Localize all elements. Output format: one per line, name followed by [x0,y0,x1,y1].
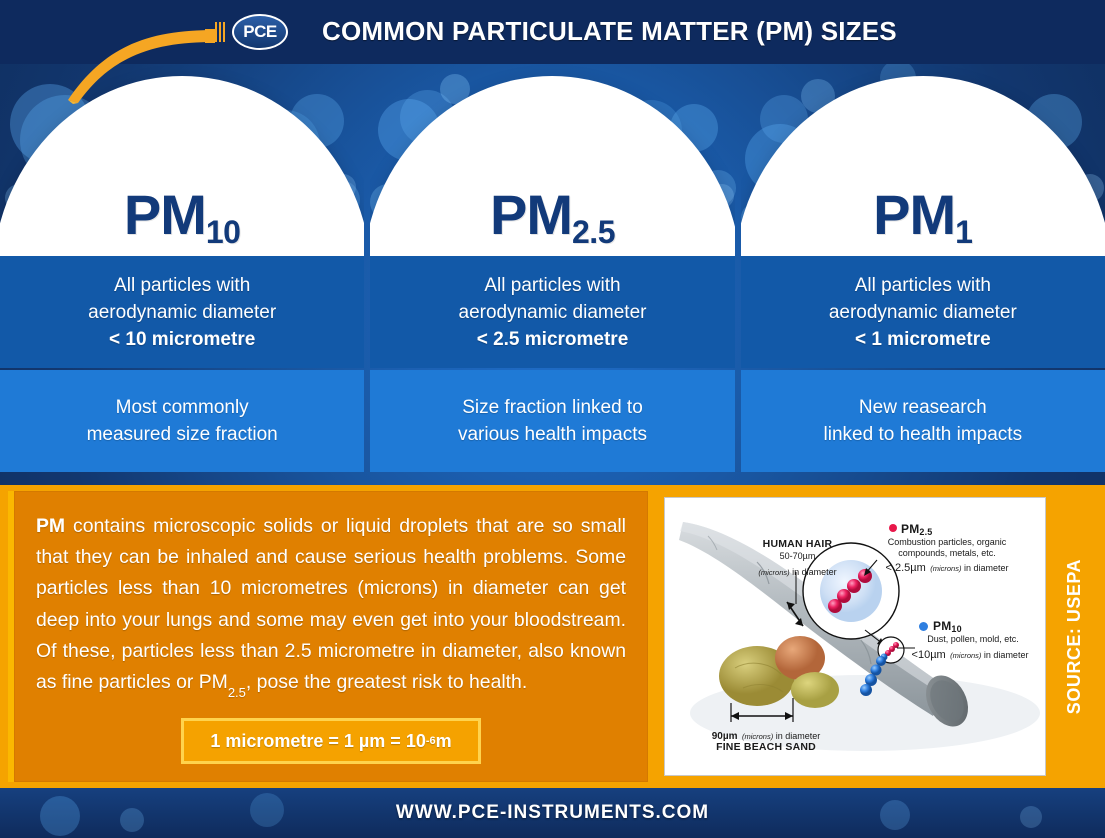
desc-line-3: < 10 micrometre [109,326,255,353]
pm10-dot-icon [919,622,928,631]
desc-line-2: aerodynamic diameter [459,299,647,326]
pm25-note-rest: in diameter [961,563,1008,573]
footer-bar: WWW.PCE-INSTRUMENTS.COM [0,788,1105,838]
pm-label-subscript: 1 [955,214,972,250]
note-line-2: various health impacts [458,421,647,448]
desc-line-2: aerodynamic diameter [88,299,276,326]
formula-pre: 1 micrometre = 1 µm = 10 [210,731,426,752]
pm-cards-row: PM10 All particles with aerodynamic diam… [0,64,1105,472]
pm-label-base: PM [873,183,955,246]
pm-label: PM2.5 [370,182,734,247]
human-hair-note: (microns) in diameter [735,562,860,580]
note-line-1: New reasearch [859,394,987,421]
pm-card-pm25[interactable]: PM2.5 All particles with aerodynamic dia… [370,64,734,472]
formula-post: m [436,731,452,752]
desc-line-1: All particles with [484,272,620,299]
card-note-band: Most commonly measured size fraction [0,370,364,472]
pce-logo[interactable]: PCE [232,14,288,50]
source-credit-text: SOURCE: USEPA [1064,559,1085,714]
desc-line-3: < 2.5 micrometre [477,326,629,353]
diagram-pm25-label: PM2.5 [901,522,933,536]
pm25-note-italic: (microns) [930,564,961,573]
card-description-band: All particles with aerodynamic diameter … [741,256,1105,368]
pm10-size-line: <10µm (microns) in diameter [895,645,1045,663]
note-line-2: linked to health impacts [824,421,1023,448]
sand-note-rest: in diameter [773,731,820,741]
bottom-panel: PM contains microscopic solids or liquid… [0,485,1105,788]
source-credit: SOURCE: USEPA [1053,491,1095,782]
pm-card-pm10[interactable]: PM10 All particles with aerodynamic diam… [0,64,364,472]
micrometre-formula-badge: 1 micrometre = 1 µm = 10-6 m [181,718,481,764]
card-description-band: All particles with aerodynamic diameter … [370,256,734,368]
desc-line-2: aerodynamic diameter [829,299,1017,326]
pm10-note-italic: (microns) [950,651,981,660]
pm-label-subscript: 10 [206,214,241,250]
card-description-band: All particles with aerodynamic diameter … [0,256,364,368]
pm-label: PM1 [741,182,1105,247]
desc-line-3: < 1 micrometre [855,326,991,353]
sand-title: FINE BEACH SAND [701,741,831,753]
pm-explanation-text: PM contains microscopic solids or liquid… [36,511,626,704]
pm10-desc-line1: Dust, pollen, mold, etc. [903,634,1043,644]
footer-url[interactable]: WWW.PCE-INSTRUMENTS.COM [0,802,1105,824]
pm10-size: <10µm [912,649,946,661]
desc-line-1: All particles with [114,272,250,299]
diagram-pm10-label: PM10 [933,619,962,633]
human-hair-title: HUMAN HAIR [745,538,850,550]
pm-explanation-lead: PM [36,515,65,537]
pce-logo-text: PCE [243,22,276,42]
human-hair-note-italic: (microns) [758,568,789,577]
note-line-1: Most commonly [116,394,249,421]
infographic-root: COMMON PARTICULATE MATTER (PM) SIZES PCE [0,0,1105,838]
pm25-dot-icon [889,524,897,532]
header-bar: COMMON PARTICULATE MATTER (PM) SIZES [0,0,1105,64]
pm-label-subscript: 2.5 [572,214,615,250]
pm-label-base: PM [490,183,572,246]
diagram-pm25-sub: 2.5 [919,527,932,537]
epa-diagram-image: HUMAN HAIR 50-70µm (microns) in diameter… [664,497,1046,776]
pm-explanation-subscript: 2.5 [228,685,246,700]
pm-label-base: PM [124,183,206,246]
pm25-size-line: < 2.5µm (microns) in diameter [857,558,1037,576]
pm-label: PM10 [0,182,364,247]
pm25-desc-line1: Combustion particles, organic [857,537,1037,547]
human-hair-note-rest: in diameter [790,567,837,577]
logo-bars-icon [215,22,227,42]
formula-exponent: -6 [426,735,436,747]
pm-explanation-body-a: contains microscopic solids or liquid dr… [36,515,626,693]
diagram-pm25-base: PM [901,522,919,536]
epa-diagram-panel: HUMAN HAIR 50-70µm (microns) in diameter… [656,491,1054,782]
pm-card-pm1[interactable]: PM1 All particles with aerodynamic diame… [741,64,1105,472]
pm25-size: < 2.5µm [885,562,925,574]
diagram-pm10-base: PM [933,619,951,633]
sand-note-italic: (microns) [742,732,773,741]
pm10-note-rest: in diameter [981,650,1028,660]
card-note-band: Size fraction linked to various health i… [370,370,734,472]
diagram-pm10-sub: 10 [951,624,961,634]
note-line-2: measured size fraction [87,421,278,448]
pm-explanation-body-b: , pose the greatest risk to health. [246,671,527,693]
card-note-band: New reasearch linked to health impacts [741,370,1105,472]
note-line-1: Size fraction linked to [462,394,643,421]
pm25-desc-line2: compounds, metals, etc. [857,548,1037,558]
human-hair-size: 50-70µm [745,551,850,561]
pm-explanation-box: PM contains microscopic solids or liquid… [8,491,648,782]
desc-line-1: All particles with [855,272,991,299]
page-title: COMMON PARTICULATE MATTER (PM) SIZES [322,16,897,47]
